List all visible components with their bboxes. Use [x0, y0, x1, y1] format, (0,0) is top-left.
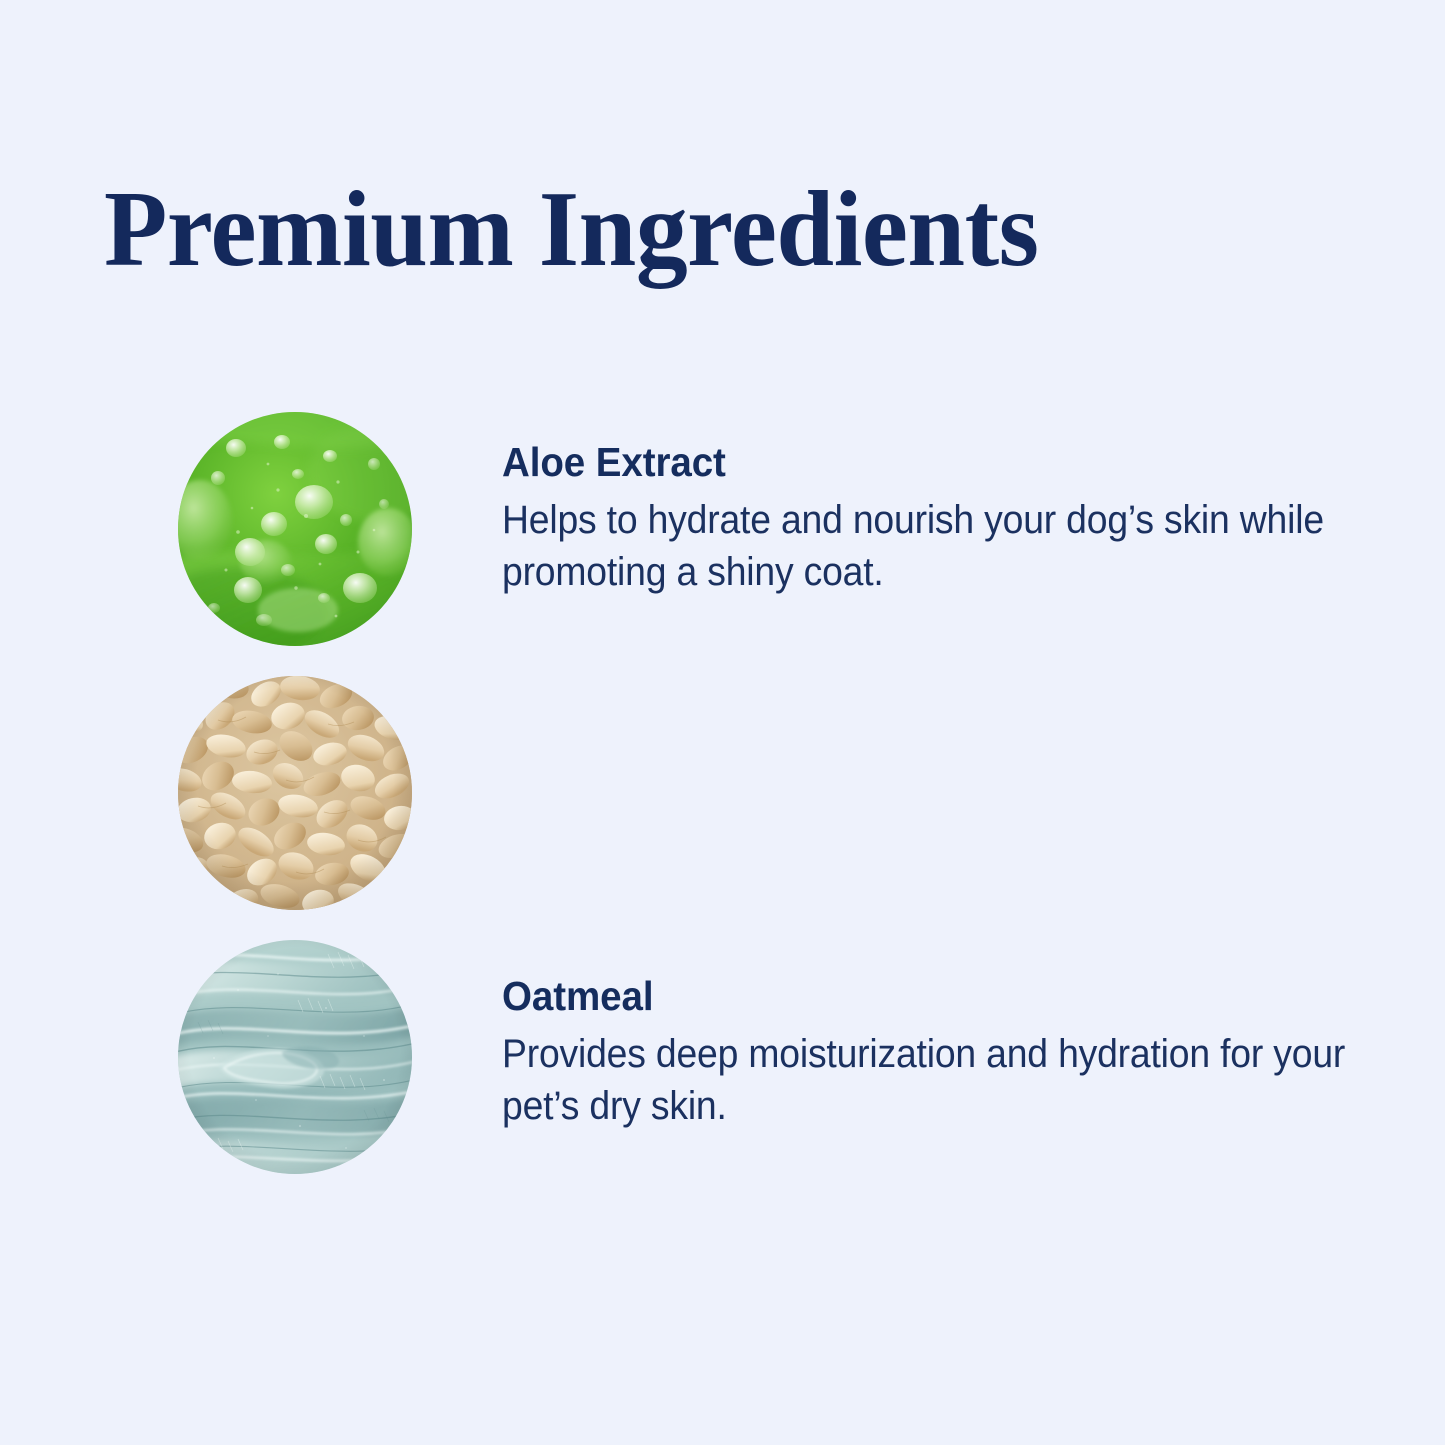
- ingredient-image-wrapper: [178, 412, 412, 646]
- list-item: Decyl Glucoside A sugar-based soap that …: [0, 928, 1445, 1190]
- ingredient-text: Aloe Extract Helps to hydrate and nouris…: [502, 438, 1372, 599]
- list-item: Aloe Extract Helps to hydrate and nouris…: [0, 400, 1445, 662]
- ingredient-image-wrapper: [178, 940, 412, 1174]
- page-title: Premium Ingredients: [104, 176, 1294, 284]
- ingredient-name: Aloe Extract: [502, 438, 1320, 486]
- teal-gel-texture-photo: [178, 940, 412, 1174]
- ingredient-description: Helps to hydrate and nourish your dog’s …: [502, 495, 1371, 598]
- rolled-oats-photo: [178, 676, 412, 910]
- aloe-leaf-waterdrops-photo: [178, 412, 412, 646]
- ingredient-image-wrapper: [178, 676, 412, 910]
- premium-ingredients-card: Premium Ingredients: [0, 0, 1445, 1445]
- list-item: Oatmeal Provides deep moisturization and…: [0, 664, 1445, 926]
